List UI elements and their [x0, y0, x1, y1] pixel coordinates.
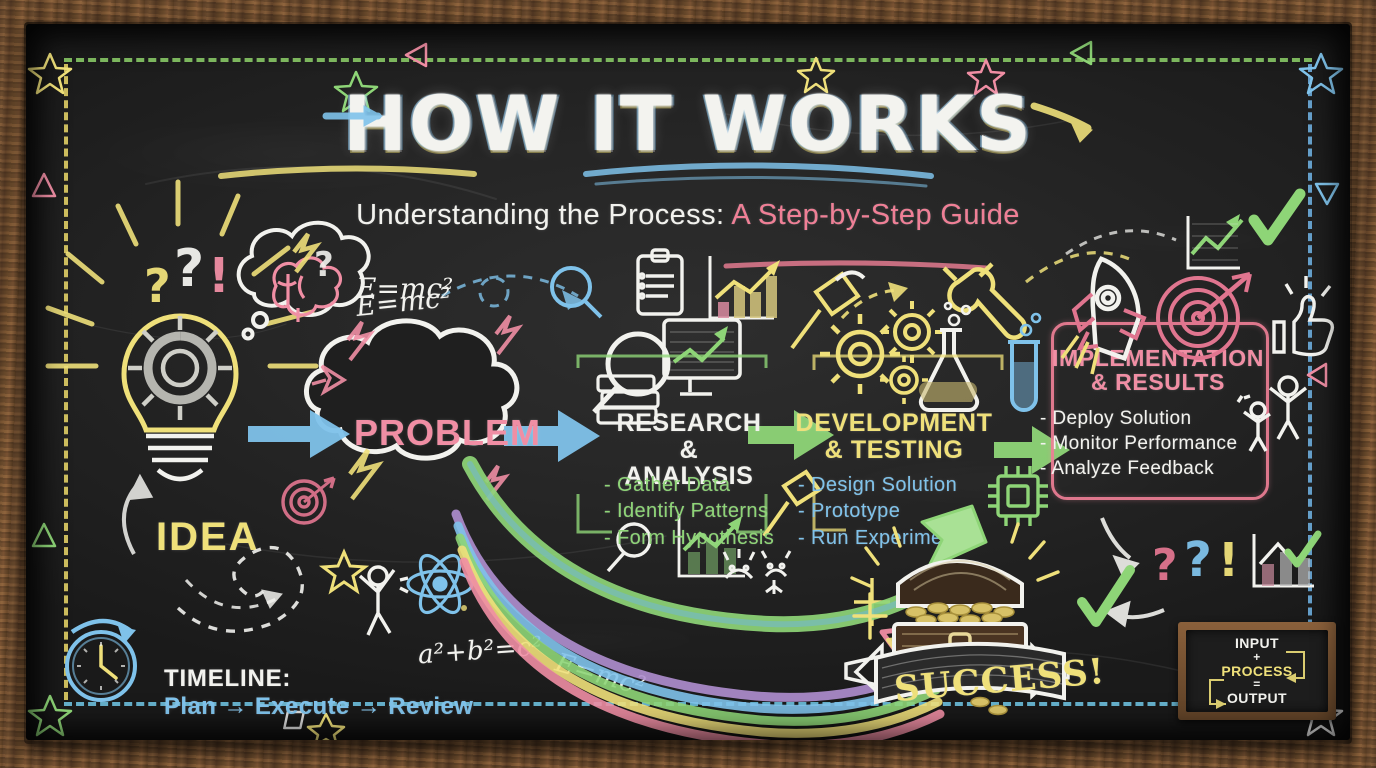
mini-chalkboard: INPUT + PROCESS = OUTPUT — [1178, 622, 1336, 720]
stage-research-title-line1: RESEARCH & — [604, 410, 774, 463]
stage-development-title-line1: DEVELOPMENT — [794, 410, 994, 437]
stage-research-bullet-2: - Identify Patterns — [604, 498, 774, 524]
svg-text:!: ! — [1218, 533, 1239, 587]
stage-implementation-bullet-2: - Monitor Performance — [1040, 431, 1237, 456]
stage-implementation-bullet-3: - Analyze Feedback — [1040, 456, 1237, 481]
stage-development-bullet-2: - Prototype — [798, 498, 970, 524]
formula-einstein-bottom: E=mc² — [552, 650, 648, 702]
stage-research-bullet-3: - Form Hypothesis — [604, 525, 774, 551]
mini-chalkboard-surface: INPUT + PROCESS = OUTPUT — [1186, 630, 1328, 712]
subtitle-accent: A Step-by-Step Guide — [731, 199, 1020, 231]
svg-text:?: ? — [174, 239, 204, 299]
formula-einstein-top: E=mc² — [355, 284, 453, 322]
stage-development-bullet-1: - Design Solution — [798, 472, 970, 498]
success-label: SUCCESS! — [893, 653, 1107, 708]
chalkboard: HOW IT WORKS Understanding the Process: … — [26, 24, 1350, 740]
stage-implementation-bullets: - Deploy Solution - Monitor Performance … — [1040, 406, 1237, 481]
border-dash-top — [64, 58, 1312, 62]
stage-development-title: DEVELOPMENT & TESTING — [794, 410, 994, 463]
svg-text:!: ! — [208, 248, 230, 304]
stage-development-bullet-3: - Run Experiments — [798, 525, 970, 551]
page-subtitle: Understanding the Process: A Step-by-Ste… — [26, 200, 1350, 231]
node-problem-label: PROBLEM — [354, 414, 541, 452]
subtitle-main: Understanding the Process: — [356, 199, 724, 231]
stage-development-title-line2: & TESTING — [794, 437, 994, 464]
wooden-frame: HOW IT WORKS Understanding the Process: … — [0, 0, 1376, 768]
timeline-label: TIMELINE: — [164, 666, 291, 691]
stage-implementation-title-line1: IMPLEMENTATION — [1038, 346, 1278, 370]
formula-pythagoras: a²+b²=c² — [417, 634, 543, 670]
svg-text:?: ? — [1184, 532, 1212, 588]
stage-development-bullets: - Design Solution - Prototype - Run Expe… — [798, 472, 970, 551]
stage-implementation-bullet-1: - Deploy Solution — [1040, 406, 1237, 431]
svg-text:?: ? — [144, 259, 171, 313]
stage-research-bullet-1: - Gather Data — [604, 472, 774, 498]
page-title: HOW IT WORKS — [26, 84, 1350, 165]
svg-text:?: ? — [314, 245, 334, 285]
stage-implementation-title-line2: & RESULTS — [1038, 370, 1278, 394]
node-idea-label: IDEA — [156, 516, 260, 558]
stage-implementation-title: IMPLEMENTATION & RESULTS — [1038, 346, 1278, 395]
svg-text:?: ? — [1152, 540, 1178, 591]
timeline-steps: Plan → Execute → Review — [164, 694, 473, 719]
stage-research-bullets: - Gather Data - Identify Patterns - Form… — [604, 472, 774, 551]
mini-board-arrows — [1178, 622, 1336, 720]
